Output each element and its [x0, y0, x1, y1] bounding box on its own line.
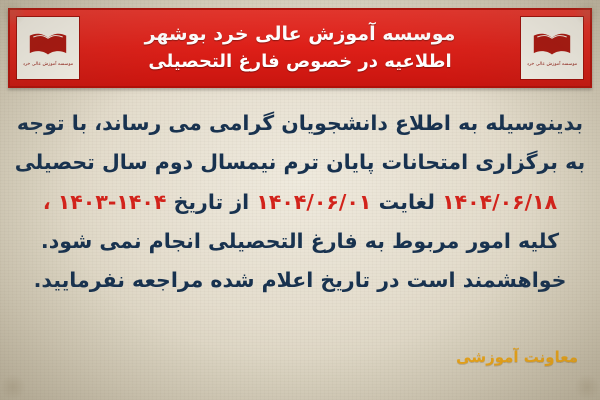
- corner-wear-bottom-left: [0, 374, 26, 400]
- date-from-label: از تاریخ: [174, 190, 250, 214]
- header-title-group: موسسه آموزش عالی خرد بوشهر اطلاعیه در خص…: [80, 21, 520, 76]
- institution-logo-right: موسسه آموزش عالی خرد: [520, 16, 584, 80]
- corner-wear-bottom-right: [574, 374, 600, 400]
- logo-left-caption: موسسه آموزش عالی خرد: [23, 62, 73, 68]
- academic-year-range: ۱۴۰۴-۱۴۰۳ ،: [43, 190, 167, 214]
- header-banner: موسسه آموزش عالی خرد موسسه آموزش عالی خر…: [8, 8, 592, 88]
- open-book-icon: [27, 29, 69, 59]
- announcement-body: بدینوسیله به اطلاع دانشجویان گرامی می رس…: [14, 104, 586, 301]
- institution-logo-left: موسسه آموزش عالی خرد: [16, 16, 80, 80]
- body-line-1: بدینوسیله به اطلاع دانشجویان گرامی می رس…: [14, 104, 586, 143]
- institution-title: موسسه آموزش عالی خرد بوشهر: [84, 21, 516, 49]
- date-to-value: ۱۴۰۴/۰۶/۱۸: [442, 190, 557, 214]
- body-line-2: به برگزاری امتحانات پایان ترم نیمسال دوم…: [14, 143, 586, 182]
- signature-text: معاونت آموزشی: [456, 348, 578, 366]
- open-book-icon: [531, 29, 573, 59]
- date-to-label: لغایت: [379, 190, 435, 214]
- body-line-4: خواهشمند است در تاریخ اعلام شده مراجعه ن…: [14, 261, 586, 300]
- date-from-value: ۱۴۰۴/۰۶/۰۱: [256, 190, 371, 214]
- announcement-subtitle: اطلاعیه در خصوص فارغ التحصیلی: [84, 48, 516, 75]
- body-line-3: کلیه امور مربوط به فارغ التحصیلی انجام ن…: [14, 222, 586, 261]
- announcement-poster: موسسه آموزش عالی خرد موسسه آموزش عالی خر…: [0, 0, 600, 400]
- logo-right-caption: موسسه آموزش عالی خرد: [527, 62, 577, 68]
- body-line-date: ۱۴۰۴/۰۶/۱۸ لغایت ۱۴۰۴/۰۶/۰۱ از تاریخ ۱۴۰…: [14, 183, 586, 222]
